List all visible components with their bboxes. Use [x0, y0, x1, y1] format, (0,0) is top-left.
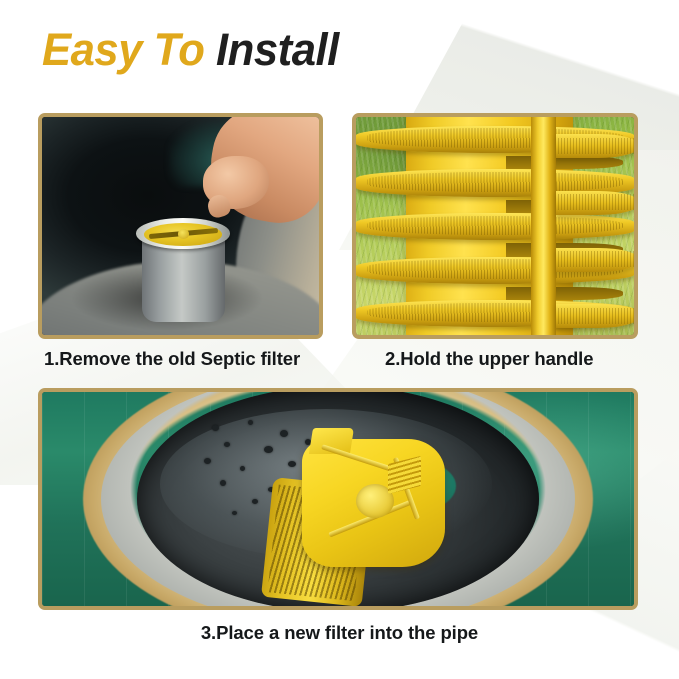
step-1-image-frame: [38, 113, 323, 339]
page-title-gold: Easy To: [42, 24, 204, 75]
step-2-caption: 2.Hold the upper handle: [385, 348, 593, 370]
page-title-dark: Install: [216, 24, 339, 75]
step-2-photo: [356, 117, 634, 335]
step-2-image-frame: [352, 113, 638, 339]
spiral-gap: [506, 156, 623, 169]
spiral-right-lobe: [556, 134, 638, 158]
step-1-caption: 1.Remove the old Septic filter: [44, 348, 300, 370]
step-3-photo: [42, 392, 634, 606]
page-title: Easy To Install: [42, 26, 339, 73]
step-1-photo: [42, 117, 319, 335]
spiral-gap: [506, 287, 623, 300]
filter-upper-handle-spine: [531, 113, 556, 339]
step-3-caption: 3.Place a new filter into the pipe: [0, 622, 679, 644]
step-3-image-frame: [38, 388, 638, 610]
spiral-right-lobe: [556, 191, 638, 215]
spiral-right-lobe: [556, 248, 638, 272]
filter-cap-knob: [178, 229, 190, 239]
spiral-right-lobe: [556, 304, 638, 328]
spiral-flute: [356, 213, 634, 240]
